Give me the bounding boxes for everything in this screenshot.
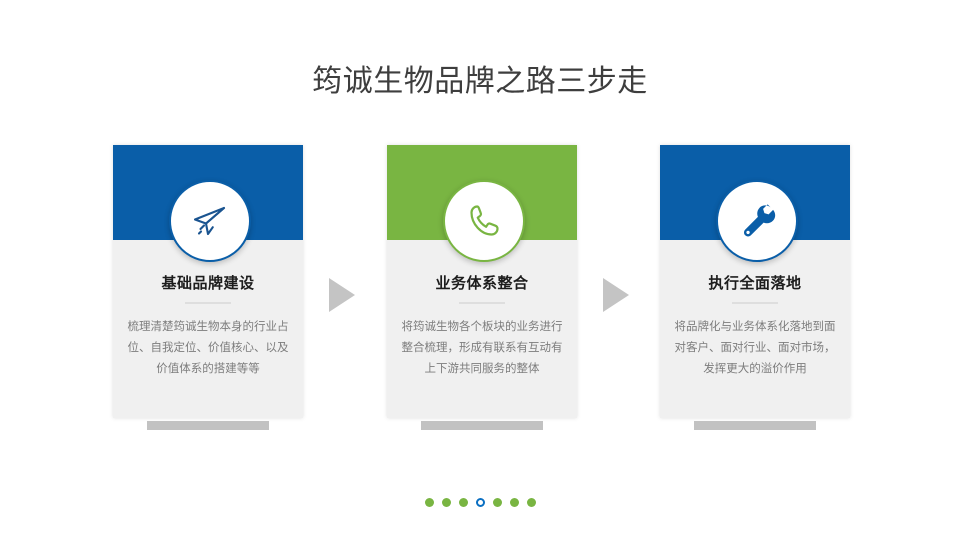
- page-title: 筠诚生物品牌之路三步走: [0, 62, 960, 102]
- step-card-3-title: 执行全面落地: [660, 272, 850, 293]
- step-card-3-icon-wrapper: [716, 180, 798, 262]
- step-card-1-title: 基础品牌建设: [113, 272, 303, 293]
- step-card-3[interactable]: 执行全面落地 将品牌化与业务体系化落地到面对客户、面对行业、面对市场，发挥更大的…: [660, 145, 850, 418]
- pagination-dot-4-active[interactable]: [476, 498, 485, 507]
- step-card-2-divider: [459, 302, 505, 304]
- pagination-dot-7[interactable]: [527, 498, 536, 507]
- step-card-3-divider: [732, 302, 778, 304]
- step-card-1[interactable]: 基础品牌建设 梳理清楚筠诚生物本身的行业占位、自我定位、价值核心、以及价值体系的…: [113, 145, 303, 418]
- arrow-step-1-to-2-icon: [329, 278, 355, 312]
- pagination-dot-2[interactable]: [442, 498, 451, 507]
- step-card-2[interactable]: 业务体系整合 将筠诚生物各个板块的业务进行整合梳理，形成有联系有互动有上下游共同…: [387, 145, 577, 418]
- step-card-1-description: 梳理清楚筠诚生物本身的行业占位、自我定位、价值核心、以及价值体系的搭建等等: [127, 317, 289, 380]
- step-card-1-divider: [185, 302, 231, 304]
- step-card-2-base-bar: [421, 421, 543, 430]
- step-card-2-icon-wrapper: [443, 180, 525, 262]
- step-card-2-title: 业务体系整合: [387, 272, 577, 293]
- step-card-1-base-bar: [147, 421, 269, 430]
- arrow-step-2-to-3-icon: [603, 278, 629, 312]
- steps-container: 基础品牌建设 梳理清楚筠诚生物本身的行业占位、自我定位、价值核心、以及价值体系的…: [113, 145, 848, 445]
- wrench-icon: [737, 201, 777, 241]
- paper-plane-icon: [190, 201, 230, 241]
- phone-icon: [464, 201, 504, 241]
- step-card-2-description: 将筠诚生物各个板块的业务进行整合梳理，形成有联系有互动有上下游共同服务的整体: [401, 317, 563, 380]
- pagination-dot-1[interactable]: [425, 498, 434, 507]
- pagination-dot-5[interactable]: [493, 498, 502, 507]
- pagination-dot-6[interactable]: [510, 498, 519, 507]
- step-card-3-description: 将品牌化与业务体系化落地到面对客户、面对行业、面对市场，发挥更大的溢价作用: [674, 317, 836, 380]
- step-card-3-base-bar: [694, 421, 816, 430]
- pagination-dot-3[interactable]: [459, 498, 468, 507]
- step-card-1-icon-wrapper: [169, 180, 251, 262]
- pagination-dots: [0, 498, 960, 507]
